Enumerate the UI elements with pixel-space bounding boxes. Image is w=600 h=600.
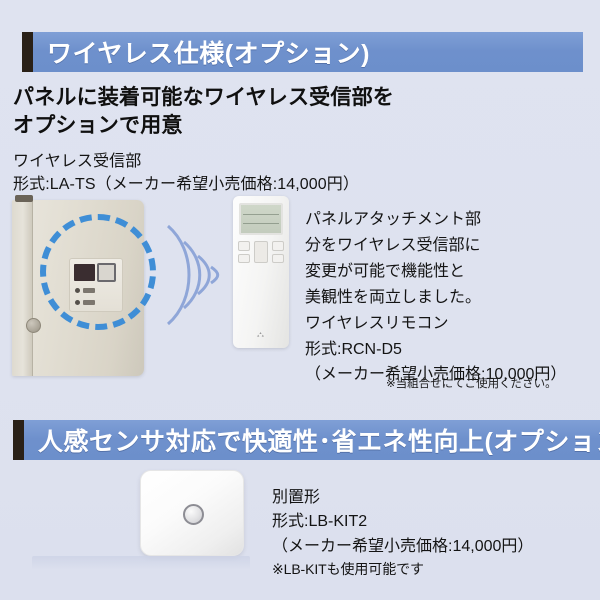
mitsubishi-logo-icon — [233, 332, 289, 339]
remote-keypad — [238, 241, 284, 267]
wireless-usage-note: ※当組合せにてご使用ください。 — [386, 375, 557, 391]
remote-model: 形式:RCN-D5 — [305, 337, 566, 363]
human-sensor-model-block: 別置形 形式:LB-KIT2 （メーカー希望小売価格:14,000円） ※LB-… — [272, 486, 533, 580]
receiver-name: ワイヤレス受信部 — [13, 150, 359, 173]
remote-key — [272, 241, 284, 251]
description-line-2: 分をワイヤレス受信部に — [305, 233, 481, 259]
section-accent-bar — [13, 420, 24, 460]
wireless-description: パネルアタッチメント部 分をワイヤレス受信部に 変更が可能で機能性と 美観性を両… — [305, 207, 481, 311]
cabinet-side-panel — [12, 200, 33, 376]
lead-line-1: パネルに装着可能なワイヤレス受信部を — [13, 84, 394, 112]
section-accent-bar — [22, 32, 33, 72]
product-spec-page: ワイヤレス仕様(オプション) パネルに装着可能なワイヤレス受信部を オプションで… — [0, 0, 600, 600]
cabinet-top-fitting — [15, 195, 33, 202]
description-line-1: パネルアタッチメント部 — [305, 207, 481, 233]
sensor-lens-icon — [183, 504, 204, 525]
sensor-note: ※LB-KITも使用可能です — [272, 559, 533, 580]
wireless-photo-composition — [0, 192, 300, 397]
section-header-bar: 人感センサ対応で快適性･省エネ性向上(オプション) — [24, 420, 600, 460]
wireless-signal-waves-icon — [160, 220, 236, 330]
sensor-price: （メーカー希望小売価格:14,000円） — [272, 535, 533, 559]
sensor-type-name: 別置形 — [272, 486, 533, 510]
description-line-3: 変更が可能で機能性と — [305, 259, 481, 285]
sensor-reflection — [32, 556, 250, 570]
section-header-title: 人感センサ対応で快適性･省エネ性向上(オプション) — [38, 422, 600, 458]
human-sensor-unit — [140, 470, 244, 556]
cabinet-lock-knob-icon — [26, 318, 41, 333]
wireless-remote-controller — [233, 196, 289, 348]
section-header-title: ワイヤレス仕様(オプション) — [47, 34, 370, 70]
remote-key — [272, 254, 284, 263]
remote-name: ワイヤレスリモコン — [305, 311, 566, 337]
remote-key — [238, 254, 250, 263]
section-header-bar: ワイヤレス仕様(オプション) — [33, 32, 583, 72]
human-sensor-photo — [140, 470, 260, 578]
receiver-model-block: ワイヤレス受信部 形式:LA-TS（メーカー希望小売価格:14,000円） — [13, 150, 359, 196]
remote-key-center — [254, 241, 268, 263]
section-header-human-sensor: 人感センサ対応で快適性･省エネ性向上(オプション) — [13, 420, 591, 460]
mitsubishi-mark-icon — [257, 332, 264, 339]
description-line-4: 美観性を両立しました。 — [305, 285, 481, 311]
section-header-wireless: ワイヤレス仕様(オプション) — [22, 32, 583, 72]
sensor-model: 形式:LB-KIT2 — [272, 510, 533, 534]
lead-line-2: オプションで用意 — [13, 112, 394, 140]
dashed-circle-icon — [40, 214, 156, 330]
remote-key — [238, 241, 250, 251]
remote-lcd-screen — [239, 203, 283, 235]
lead-copy-wireless: パネルに装着可能なワイヤレス受信部を オプションで用意 — [13, 84, 394, 139]
